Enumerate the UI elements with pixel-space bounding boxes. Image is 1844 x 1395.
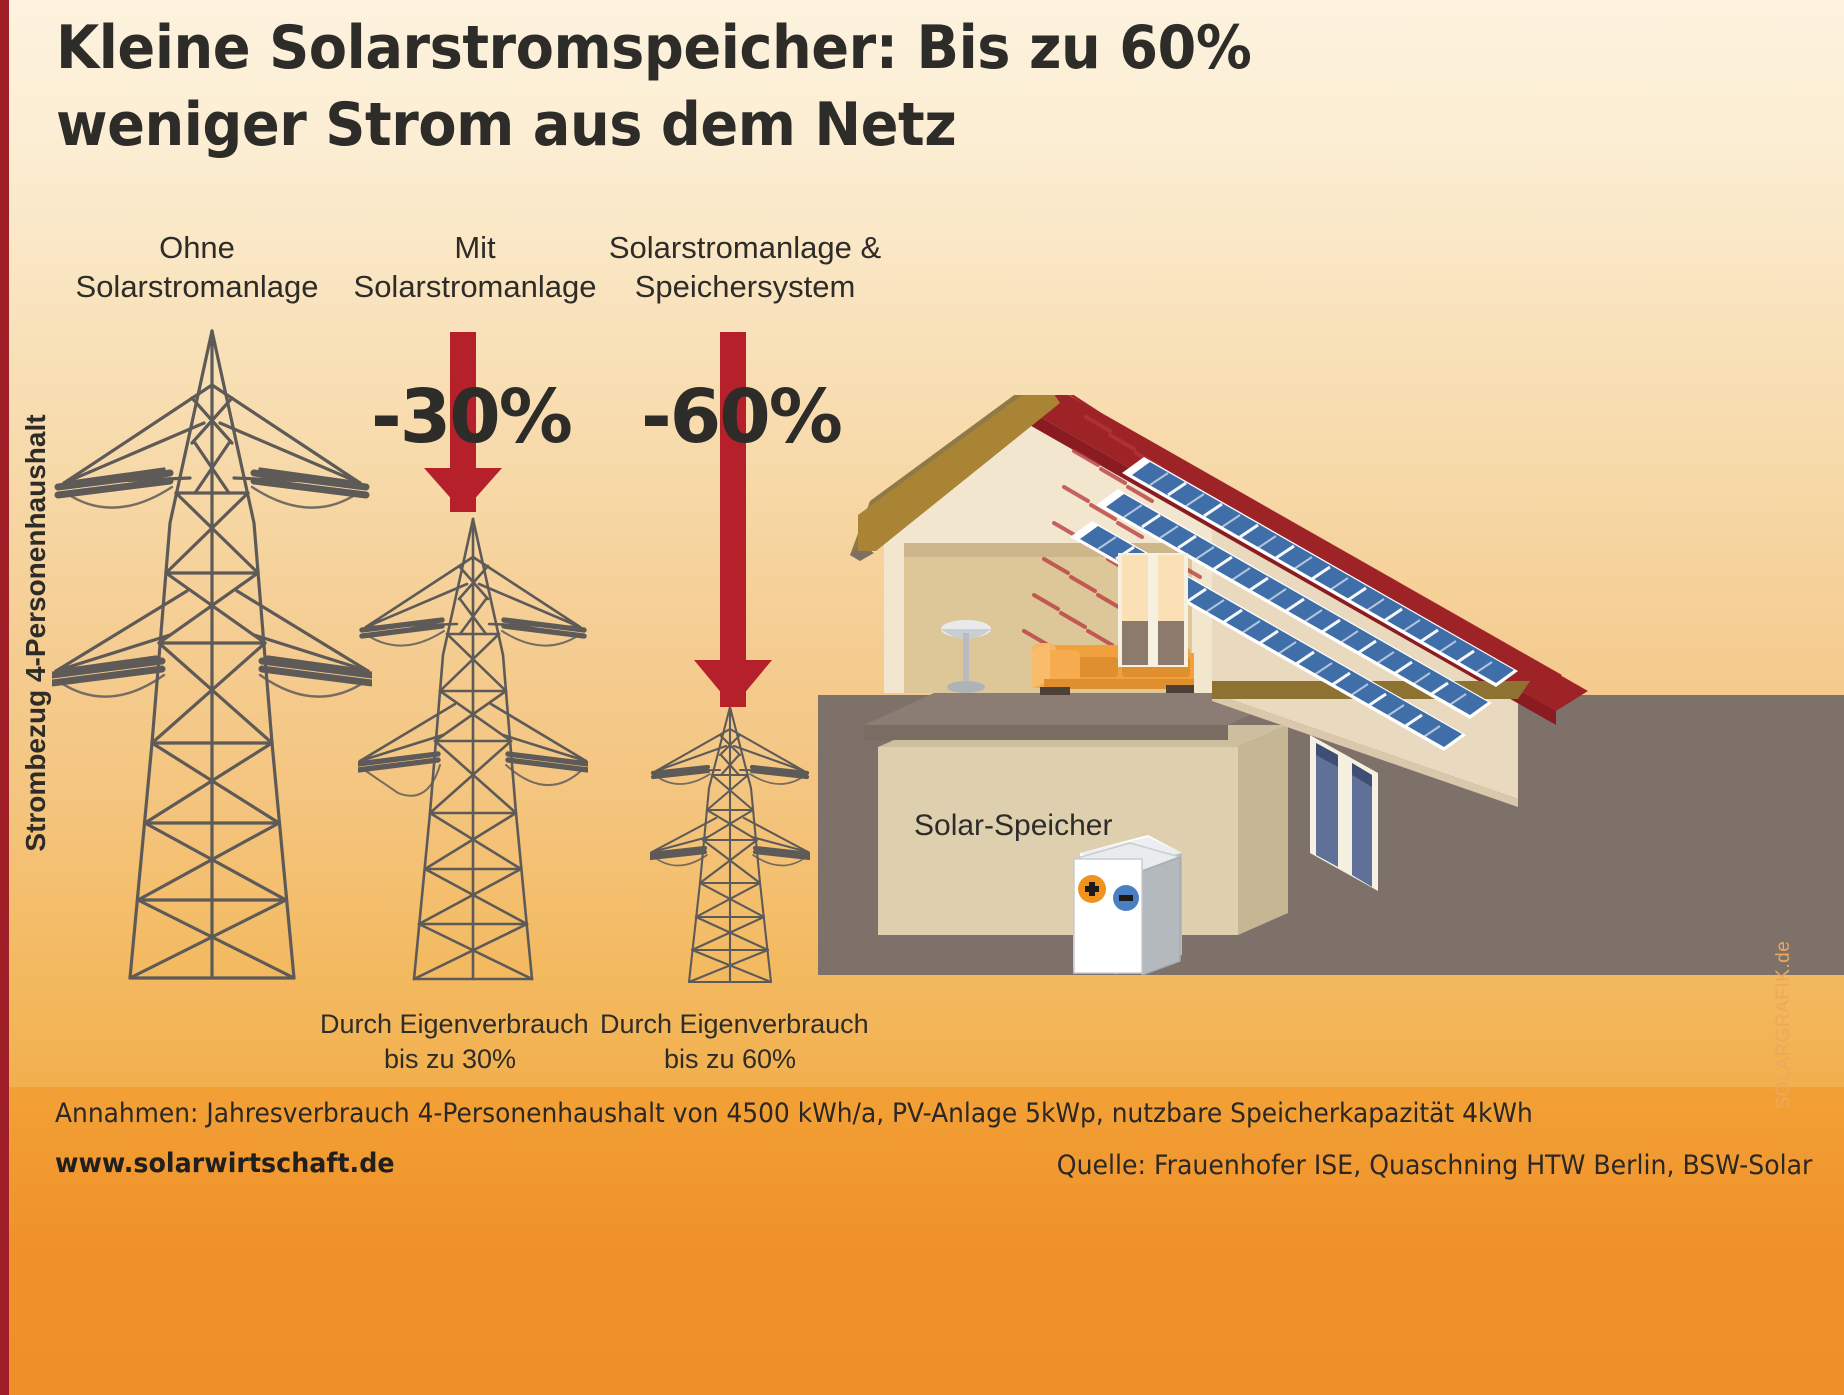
interior-window xyxy=(1118,553,1188,667)
reduction-label-60: -60% xyxy=(641,374,841,460)
caption-self-consumption-30: Durch Eigenverbrauch bis zu 30% xyxy=(320,1007,580,1077)
reduction-label-30: -30% xyxy=(371,374,571,460)
page-title: Kleine Solarstromspeicher: Bis zu 60% we… xyxy=(56,10,1479,164)
column-header-line2: Solarstromanlage xyxy=(335,267,615,306)
website-link[interactable]: www.solarwirtschaft.de xyxy=(55,1148,395,1179)
house-with-solar-illustration: Solar-Speicher xyxy=(818,395,1844,975)
caption-self-consumption-60: Durch Eigenverbrauch bis zu 60% xyxy=(600,1007,860,1077)
caption-line2: bis zu 30% xyxy=(320,1042,580,1077)
battery-storage-unit xyxy=(1074,835,1182,975)
column-header-speicher: Solarstromanlage & Speichersystem xyxy=(580,228,910,306)
footer-accent-rule xyxy=(0,1087,9,1395)
column-header-ohne: Ohne Solarstromanlage xyxy=(56,228,338,306)
column-header-line1: Ohne xyxy=(56,228,338,267)
column-header-mit: Mit Solarstromanlage xyxy=(335,228,615,306)
caption-line2: bis zu 60% xyxy=(600,1042,860,1077)
pylon-icon-medium xyxy=(358,513,588,983)
column-header-line2: Speichersystem xyxy=(580,267,910,306)
caption-line1: Durch Eigenverbrauch xyxy=(320,1007,580,1042)
source-text: Quelle: Frauenhofer ISE, Quaschning HTW … xyxy=(1056,1150,1812,1181)
storage-label: Solar-Speicher xyxy=(914,809,1112,842)
infographic-poster: Kleine Solarstromspeicher: Bis zu 60% we… xyxy=(0,0,1844,1395)
column-header-line2: Solarstromanlage xyxy=(56,267,338,306)
y-axis-label: Strombezug 4-Personenhaushalt xyxy=(20,383,52,883)
assumptions-text: Annahmen: Jahresverbrauch 4-Personenhaus… xyxy=(55,1098,1533,1129)
column-header-line1: Mit xyxy=(335,228,615,267)
watermark-label: SOLARGRAFIK.de xyxy=(1773,925,1795,1125)
caption-line1: Durch Eigenverbrauch xyxy=(600,1007,860,1042)
column-header-line1: Solarstromanlage & xyxy=(580,228,910,267)
pylon-icon-small xyxy=(650,703,810,985)
footer-bar xyxy=(0,1087,1844,1395)
pylon-icon-full xyxy=(52,323,372,983)
